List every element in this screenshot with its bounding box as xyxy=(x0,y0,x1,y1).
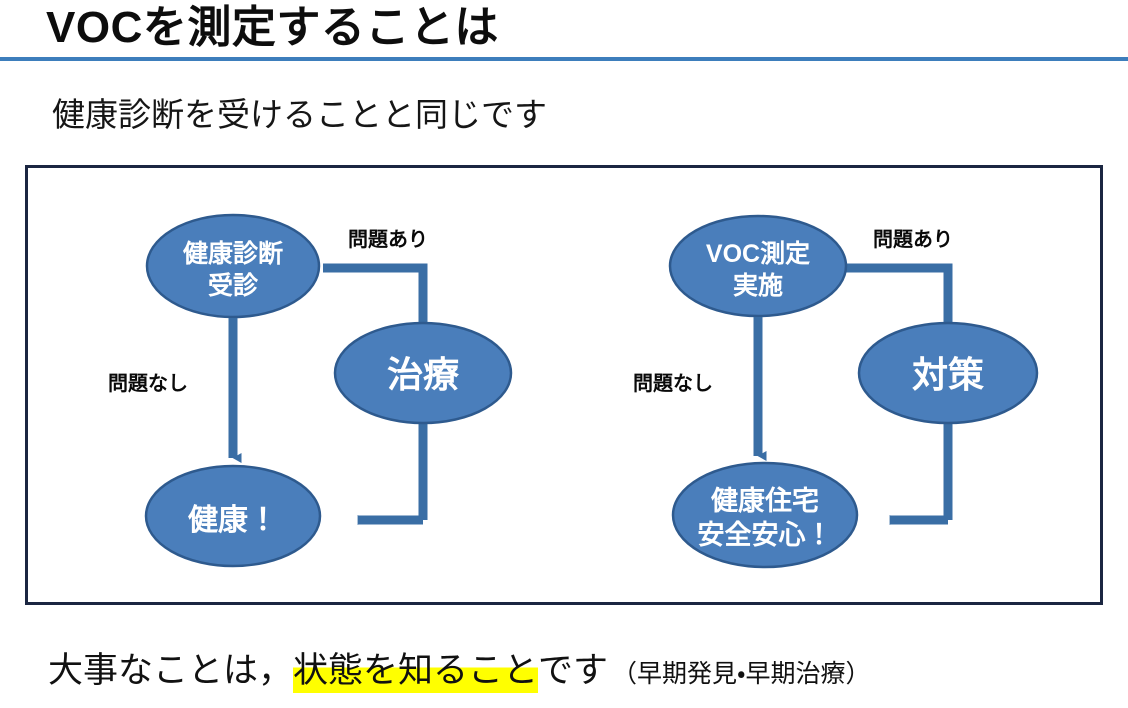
right-node-start[interactable]: VOC測定 実施 xyxy=(670,216,846,316)
flowchart-svg: 健康診断 受診 問題あり 問題なし 治療 健康！ VOC測定 実施 xyxy=(28,168,1106,608)
left-label-problem: 問題あり xyxy=(348,228,428,251)
right-start-label-line2: 実施 xyxy=(733,272,783,300)
right-end-label-line2: 安全安心！ xyxy=(698,520,833,550)
right-label-problem: 問題あり xyxy=(873,228,953,251)
left-node-end[interactable]: 健康！ xyxy=(146,466,320,566)
left-node-action[interactable]: 治療 xyxy=(335,323,511,423)
caption-after: です xyxy=(538,649,608,693)
caption-highlighted-text: 状態を知ること xyxy=(293,649,538,693)
left-node-start[interactable]: 健康診断 受診 xyxy=(147,215,319,317)
page-subtitle: 健康診断を受けることと同じです xyxy=(52,94,547,136)
caption: 大事なことは， 状態を知ること です （早期発見・早期治療） xyxy=(48,640,871,702)
page-title: VOCを測定することは xyxy=(46,2,499,54)
caption-note: （早期発見・早期治療） xyxy=(608,652,871,702)
caption-before: 大事なことは， xyxy=(48,649,293,693)
left-action-label: 治療 xyxy=(387,354,459,395)
left-end-label: 健康！ xyxy=(188,504,278,537)
diagram-frame: 健康診断 受診 問題あり 問題なし 治療 健康！ VOC測定 実施 xyxy=(25,165,1103,605)
title-underline-rule xyxy=(0,57,1128,61)
right-node-end[interactable]: 健康住宅 安全安心！ xyxy=(673,463,857,567)
right-start-label-line1: VOC測定 xyxy=(706,239,810,268)
right-action-label: 対策 xyxy=(912,354,984,395)
left-start-label-line1: 健康診断 xyxy=(182,240,283,268)
right-label-no-problem: 問題なし xyxy=(633,372,713,395)
left-start-label-line2: 受診 xyxy=(208,271,259,300)
right-end-label-line1: 健康住宅 xyxy=(710,485,819,516)
right-node-action[interactable]: 対策 xyxy=(859,323,1037,423)
left-label-no-problem: 問題なし xyxy=(108,372,188,395)
